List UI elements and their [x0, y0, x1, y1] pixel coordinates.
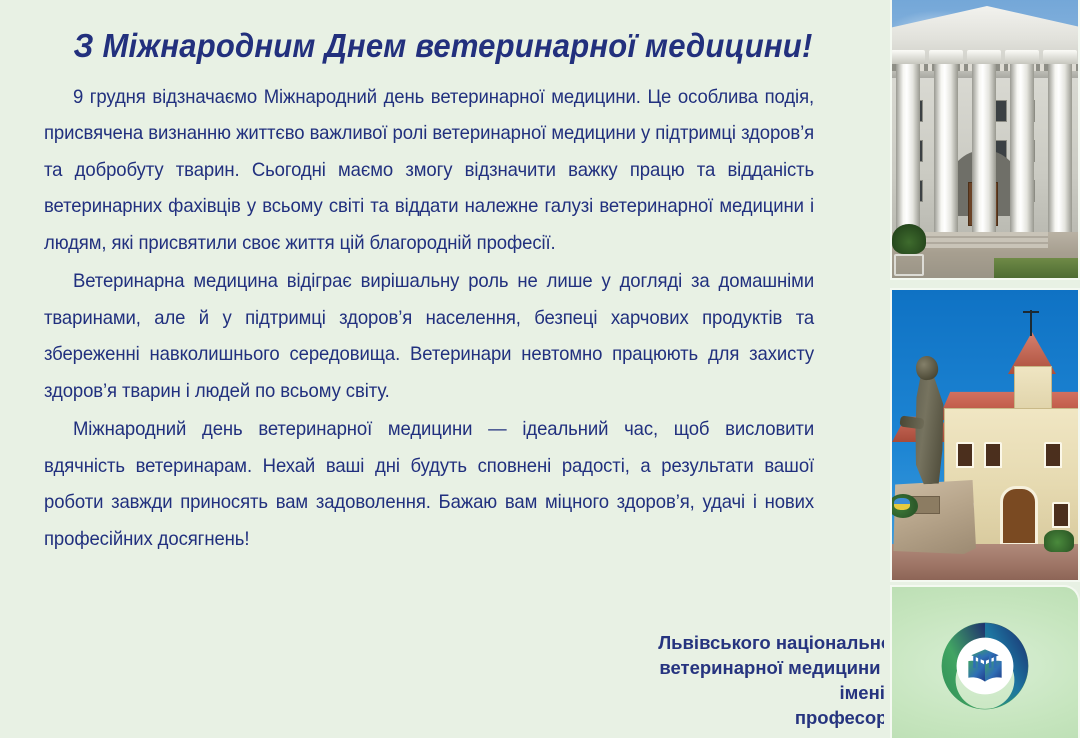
column-3	[972, 62, 996, 238]
entrance-steps	[924, 232, 1048, 248]
university-logo	[936, 617, 1034, 715]
greeting-slide: З Міжнародним Днем ветеринарної медицини…	[0, 0, 1080, 738]
lawn	[994, 258, 1078, 278]
column-4	[1010, 62, 1034, 238]
tower-spire	[1030, 310, 1032, 336]
bush-left	[892, 224, 926, 254]
column-2	[934, 62, 958, 238]
statue-head	[914, 355, 939, 382]
window-1	[956, 442, 974, 468]
window-3	[1044, 442, 1062, 468]
building-portal	[1000, 486, 1038, 546]
paragraph-3: Міжнародний день ветеринарної медицини —…	[44, 412, 814, 558]
column-5	[1048, 62, 1072, 238]
bronze-statue	[902, 344, 956, 484]
page-title: З Міжнародним Днем ветеринарної медицини…	[68, 26, 818, 66]
media-column	[884, 0, 1080, 738]
university-building-photo	[890, 0, 1080, 280]
paragraph-2: Ветеринарна медицина відіграє вирішальну…	[44, 264, 814, 410]
logo-ring-icon	[936, 617, 1034, 715]
window-5	[1052, 502, 1070, 528]
statue-arm	[899, 415, 924, 429]
body-text: 9 грудня відзначаємо Міжнародний день ве…	[44, 80, 842, 559]
logo-panel	[890, 585, 1080, 738]
bicycle	[894, 254, 924, 276]
window-2	[984, 442, 1002, 468]
statue-and-building-photo	[890, 288, 1080, 582]
paragraph-1: 9 грудня відзначаємо Міжнародний день ве…	[44, 80, 814, 263]
flower-bed	[1044, 530, 1074, 552]
column-1	[896, 62, 920, 238]
